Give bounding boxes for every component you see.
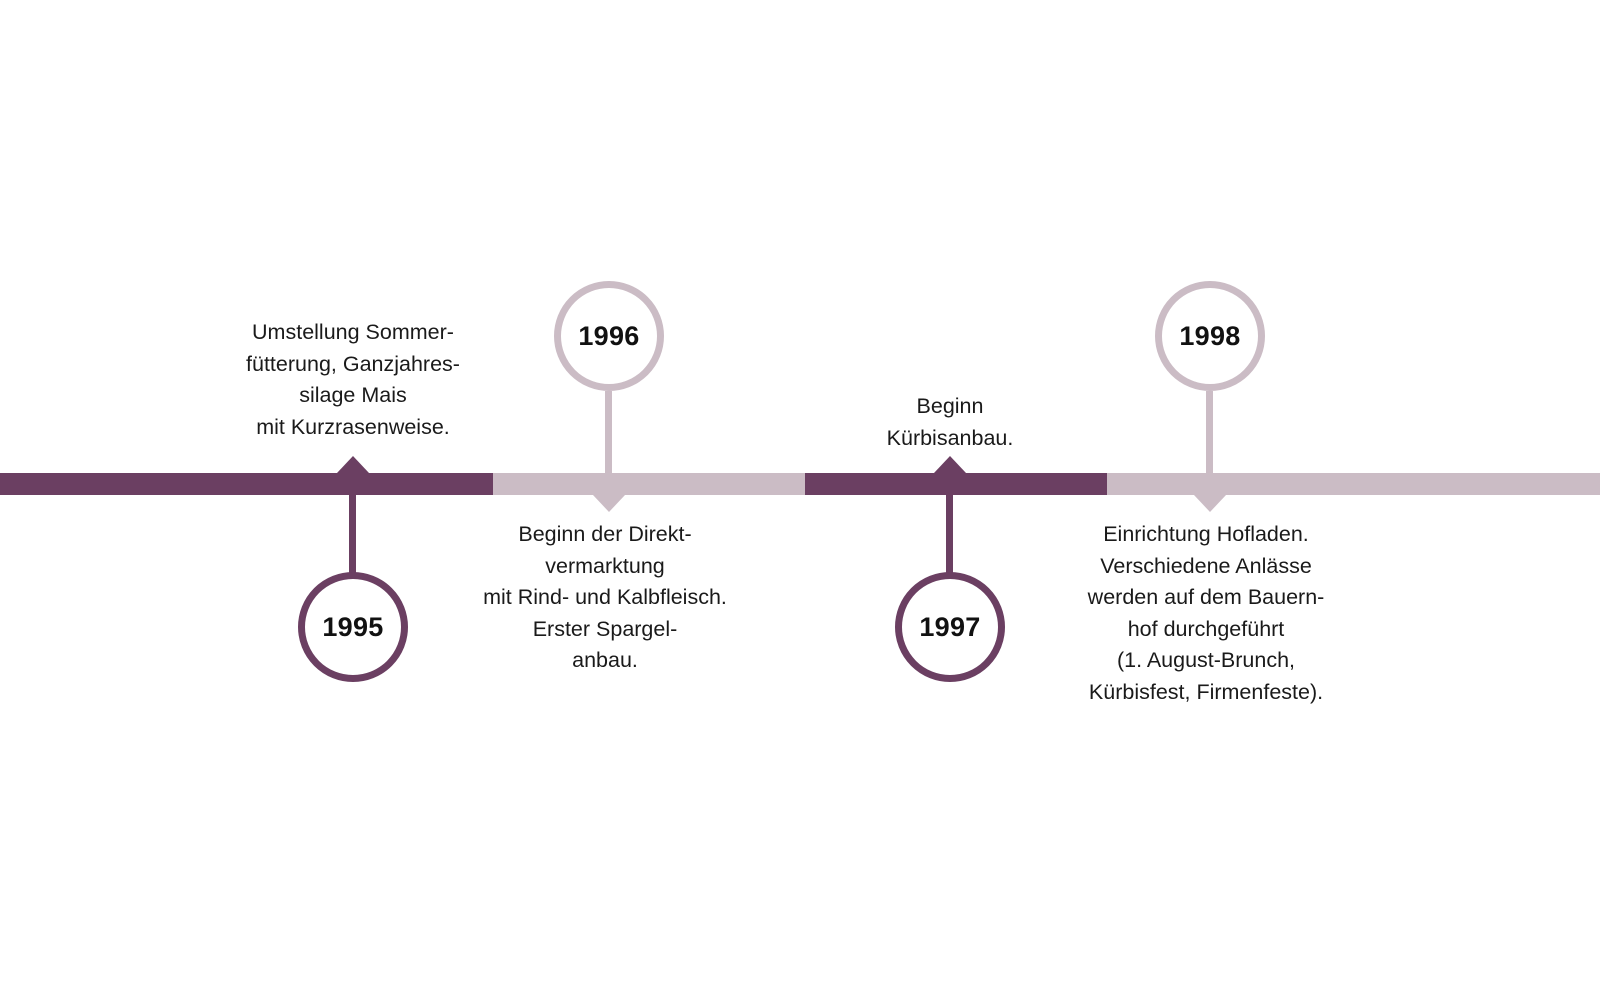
year-label-1997: 1997	[919, 614, 980, 641]
event-caption-1997: Beginn Kürbisanbau.	[820, 391, 1080, 454]
year-label-1996: 1996	[578, 323, 639, 350]
event-arrow-down-1996	[593, 495, 625, 512]
year-label-1995: 1995	[322, 614, 383, 641]
event-arrow-up-1995	[337, 456, 369, 473]
event-stem-1997	[946, 473, 953, 579]
timeline-segment-1996	[493, 473, 805, 495]
year-marker-1995[interactable]: 1995	[298, 572, 408, 682]
event-caption-1996: Beginn der Direkt- vermarktung mit Rind-…	[459, 519, 751, 677]
event-caption-1995: Umstellung Sommer- fütterung, Ganzjahres…	[193, 317, 513, 443]
event-arrow-up-1997	[934, 456, 966, 473]
timeline-segment-1997	[805, 473, 1107, 495]
event-stem-1998	[1206, 391, 1213, 473]
event-stem-1995	[349, 473, 356, 579]
year-marker-1998[interactable]: 1998	[1155, 281, 1265, 391]
event-caption-1998: Einrichtung Hofladen. Verschiedene Anläs…	[1060, 519, 1352, 709]
year-marker-1997[interactable]: 1997	[895, 572, 1005, 682]
event-stem-1996	[605, 391, 612, 473]
timeline-segment-1995	[0, 473, 493, 495]
year-marker-1996[interactable]: 1996	[554, 281, 664, 391]
timeline-segment-1998	[1107, 473, 1600, 495]
timeline-infographic: Umstellung Sommer- fütterung, Ganzjahres…	[0, 0, 1600, 984]
year-label-1998: 1998	[1179, 323, 1240, 350]
event-arrow-down-1998	[1194, 495, 1226, 512]
